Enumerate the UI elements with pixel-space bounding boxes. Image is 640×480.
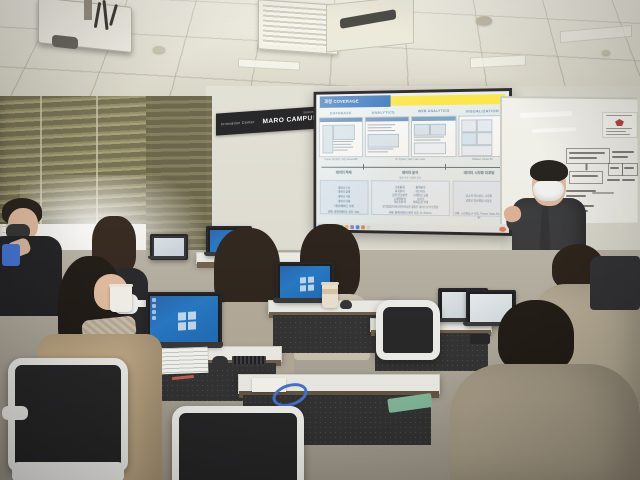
sprinkler-head: [476, 16, 492, 25]
sprinkler-head: [602, 50, 610, 55]
paper-coffee-cup[interactable]: [110, 286, 132, 312]
sign-secondary-text: Innovation Center: [221, 120, 254, 126]
smartphone-on-desk[interactable]: [470, 334, 490, 344]
desktop-icons[interactable]: [152, 298, 156, 320]
student-person-side: [590, 256, 640, 310]
computer-mouse[interactable]: [340, 300, 352, 309]
external-keyboard[interactable]: [232, 356, 266, 364]
face-mask-icon: [533, 181, 564, 201]
projection-glare: [316, 91, 509, 233]
instructor-hair: [530, 160, 568, 182]
paper-coffee-cup[interactable]: [322, 284, 338, 308]
air-conditioner-unit: [326, 0, 414, 53]
projector-mount: [84, 0, 92, 20]
classroom-scene: Innovation Center MARO CAMPUS SUWON 과정 C…: [0, 0, 640, 480]
wall-notice-poster: [602, 112, 638, 138]
sign-tiny-text: SUWON: [303, 110, 314, 115]
projection-screen: 과정 COVERAGE DATABASE: [314, 88, 512, 236]
poster-logo-icon: [615, 119, 624, 126]
projected-slide: 과정 COVERAGE DATABASE: [316, 91, 509, 233]
sign-main-text: MARO CAMPUS: [262, 114, 317, 125]
computer-mouse[interactable]: [212, 356, 228, 368]
phone-in-hand[interactable]: [2, 244, 20, 266]
sprinkler-head: [153, 46, 165, 53]
